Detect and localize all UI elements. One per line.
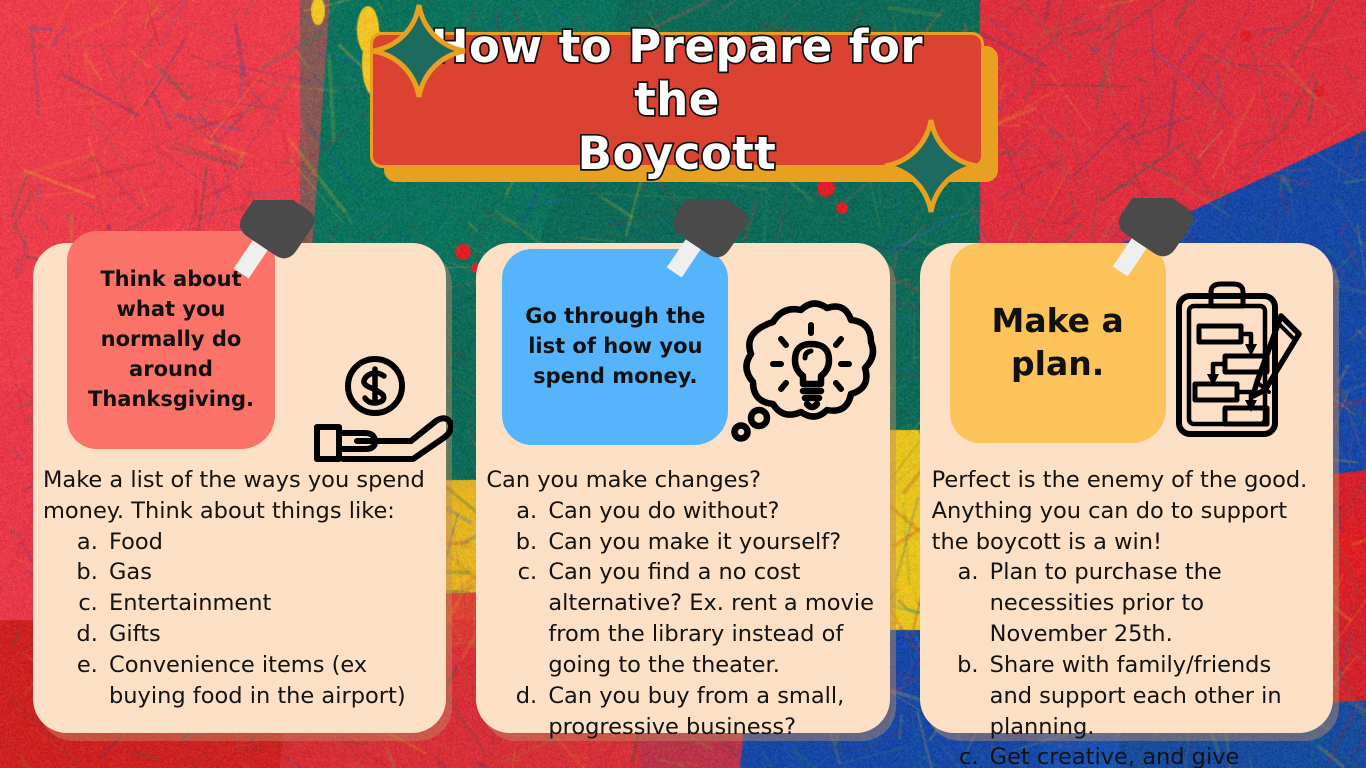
card-intro: Perfect is the enemy of the good. Anythi… [932,465,1319,557]
list-item: Plan to purchase the necessities prior t… [986,557,1319,649]
pushpin-icon [662,199,766,303]
card-make-a-plan: Make a plan. [920,243,1333,733]
sticky-note-2-text: Go through the list of how you spend mon… [514,302,716,391]
list-item: Entertainment [105,588,432,619]
list-item: Can you make it yourself? [544,527,875,558]
list-item: Get creative, and give yourself space to… [986,742,1319,768]
thought-bubble-lightbulb-icon [725,296,881,444]
list-item: Convenience items (ex buying food in the… [105,650,432,712]
list-item: Food [105,527,432,558]
title-banner-plate: How to Prepare for the Boycott [370,32,984,168]
card-go-through-list: Go through the list of how you spend mon… [476,243,889,733]
card-header: Make a plan. [920,243,1333,465]
card-list: Can you do without? Can you make it your… [544,496,875,743]
pushpin-icon [229,200,333,304]
list-item: Can you buy from a small, progressive bu… [544,681,875,743]
card-intro: Make a list of the ways you spend money.… [43,465,432,527]
list-item: Share with family/friends and support ea… [986,650,1319,742]
cards-row: Think about what you normally do around … [0,243,1366,733]
list-item: Can you find a no cost alternative? Ex. … [544,557,875,680]
clipboard-flowchart-pencil-icon [1173,280,1303,440]
list-item: Gas [105,557,432,588]
list-item: Gifts [105,619,432,650]
sticky-note-3-text: Make a plan. [962,300,1154,386]
card-header: Go through the list of how you spend mon… [476,243,889,465]
card-list: Plan to purchase the necessities prior t… [986,557,1319,768]
list-item: Can you do without? [544,496,875,527]
card-body: Perfect is the enemy of the good. Anythi… [920,465,1333,768]
card-body: Make a list of the ways you spend money.… [33,465,446,712]
title-banner: How to Prepare for the Boycott [370,32,998,182]
hand-holding-dollar-icon [313,353,453,463]
card-intro: Can you make changes? [486,465,875,496]
card-body: Can you make changes? Can you do without… [476,465,889,742]
card-think-about: Think about what you normally do around … [33,243,446,733]
pushpin-icon [1108,198,1212,302]
page-title: How to Prepare for the Boycott [391,20,963,179]
card-list: Food Gas Entertainment Gifts Convenience… [105,527,432,712]
card-header: Think about what you normally do around … [33,243,446,465]
